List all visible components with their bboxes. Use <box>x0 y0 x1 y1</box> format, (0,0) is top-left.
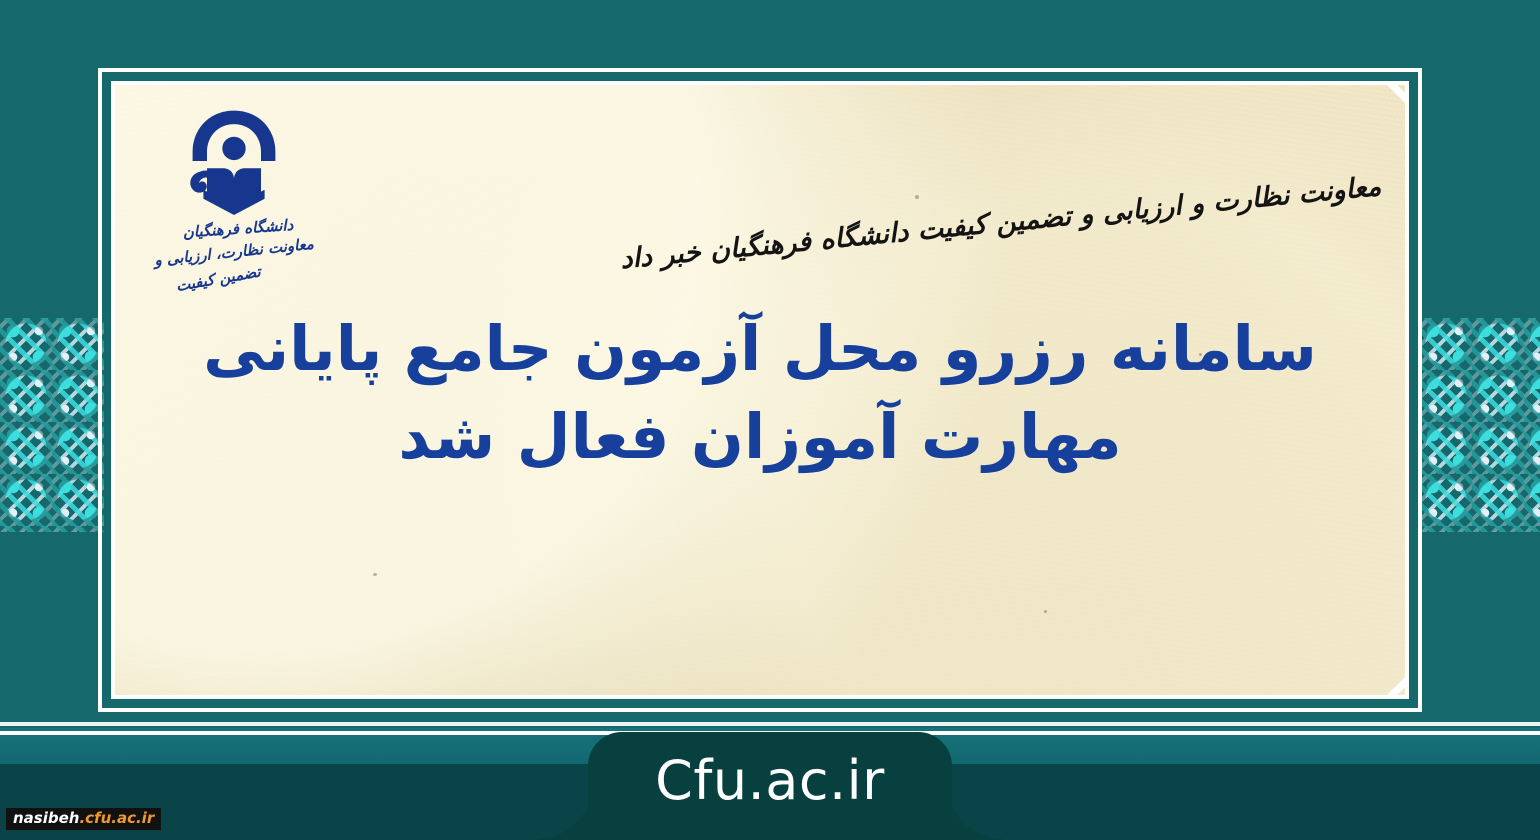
decorative-pattern-right <box>1420 318 1540 532</box>
headline: سامانه رزرو محل آزمون جامع پایانی مهارت … <box>115 305 1405 481</box>
headline-line-2: مهارت آموزان فعال شد <box>185 393 1335 481</box>
decorative-pattern-left <box>0 318 104 532</box>
watermark-domain: .cfu.ac.ir <box>79 809 154 827</box>
watermark-subdomain: nasibeh <box>13 809 79 827</box>
pattern-mask-right <box>1420 318 1540 532</box>
logo-caption: دانشگاه فرهنگیان معاونت نظارت، ارزیابی و… <box>139 219 329 286</box>
logo-block: دانشگاه فرهنگیان معاونت نظارت، ارزیابی و… <box>139 105 329 286</box>
source-watermark: nasibeh.cfu.ac.ir <box>6 808 161 830</box>
banner-stage: دانشگاه فرهنگیان معاونت نظارت، ارزیابی و… <box>0 0 1540 840</box>
footer-bar: Cfu.ac.ir <box>0 728 1540 840</box>
announcement-card: دانشگاه فرهنگیان معاونت نظارت، ارزیابی و… <box>98 68 1422 712</box>
kicker-text: معاونت نظارت و ارزیابی و تضمین کیفیت دان… <box>683 171 1383 269</box>
website-url-tab[interactable]: Cfu.ac.ir <box>588 732 952 840</box>
website-url-label: Cfu.ac.ir <box>655 749 885 812</box>
paper-speck <box>1044 610 1047 613</box>
pattern-mask-left <box>0 318 104 532</box>
paper-speck <box>915 195 919 199</box>
corner-stripes-bottom-right <box>1225 545 1405 695</box>
university-logo-icon <box>180 105 288 217</box>
card-paper-surface: دانشگاه فرهنگیان معاونت نظارت، ارزیابی و… <box>111 81 1409 699</box>
headline-line-1: سامانه رزرو محل آزمون جامع پایانی <box>185 305 1335 393</box>
paper-speck <box>373 573 377 576</box>
